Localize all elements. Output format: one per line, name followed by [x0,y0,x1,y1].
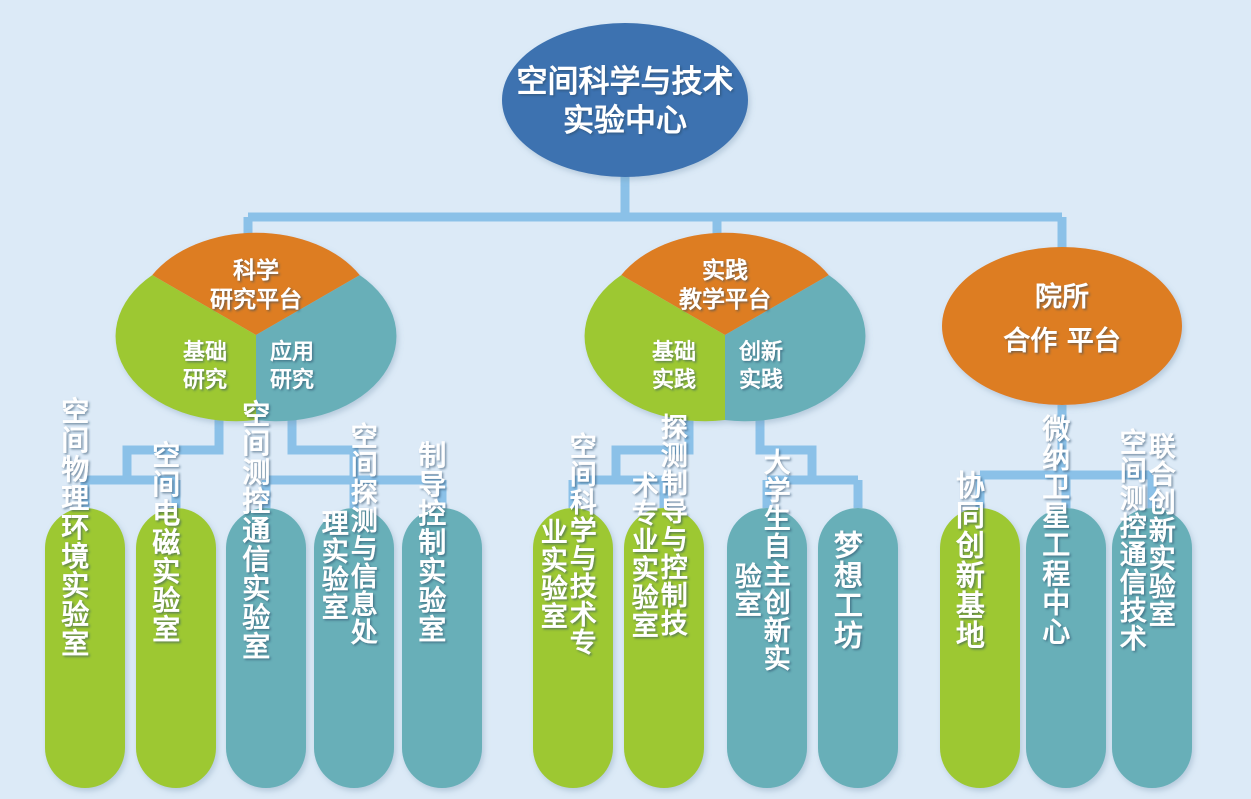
leaf-6-label-col-1: 空间科学与技术专 [565,431,597,656]
root-label-line2: 实验中心 [563,103,687,139]
leaf-4-label-col-2: 理实验室 [317,509,349,621]
leaf-6-label-col-2: 业实验室 [536,518,568,630]
platform-1-top-label-line2: 研究平台 [210,286,302,313]
leaf-5-label-col-1: 制导控制实验室 [414,440,447,643]
leaf-2-label-col-1: 空间电磁实验室 [148,439,181,643]
org-chart-svg: 空间科学与技术 实验中心 科学 研究平台 基础 研究 应用 研究 实践 教学平台… [0,0,1251,799]
platform-1-top-label-line1: 科学 [233,257,279,284]
platform-2-top-label-line1: 实践 [702,257,748,284]
root-ellipse[interactable] [502,23,748,177]
leaf-3-label-col-1: 空间测控通信实验室 [238,398,271,660]
platform-2-right-label-line2: 实践 [739,367,783,393]
root-label-line1: 空间科学与技术 [517,64,734,100]
root-node[interactable]: 空间科学与技术 实验中心 [502,23,748,177]
leaf-7-label-col-2: 术专业实验室 [627,471,659,639]
leaf-7-label-col-1: 探测制导与控制技 [656,413,688,637]
leaf-8-label-col-2: 验室 [730,561,762,618]
platform-2-top-label-line2: 教学平台 [679,286,771,313]
platform-1-left-label-line2: 研究 [183,367,227,393]
leaf-4-label-col-1: 空间探测与信息处 [346,421,379,646]
platform-1-left-label-line1: 基础 [183,340,227,365]
platform-2-left-label-line2: 实践 [652,367,696,393]
leaf-8-label-col-1: 大学生自主创新实 [759,448,792,672]
leaf-1-label-col-1: 空间物理环境实验室 [57,395,90,657]
org-chart-canvas: 空间科学与技术 实验中心 科学 研究平台 基础 研究 应用 研究 实践 教学平台… [0,0,1251,799]
leaf-12-label-col-1: 联合创新实验室 [1144,432,1177,628]
platform-1-right-label-line1: 应用 [270,339,314,365]
leaf-12-label-col-2: 空间测控通信技术 [1115,427,1147,652]
platform-2-left-label-line1: 基础 [652,340,696,365]
leaf-11-label-col-1: 微纳卫星工程中心 [1038,414,1071,646]
platform-3-label-line1: 院所 [1035,281,1089,313]
platform-2-right-label-line1: 创新 [738,339,783,365]
leaf-dream-workshop[interactable]: 梦想工坊 [818,508,898,788]
platform-1-right-label-line2: 研究 [270,367,314,393]
platform-3-label-line2: 合作 平台 [1003,325,1120,357]
leaf-10-label-col-1: 协同创新基地 [951,470,986,650]
leaf-9-label-col-1: 梦想工坊 [829,530,863,650]
platform-institute-cooperation[interactable]: 院所 合作 平台 [942,247,1182,405]
